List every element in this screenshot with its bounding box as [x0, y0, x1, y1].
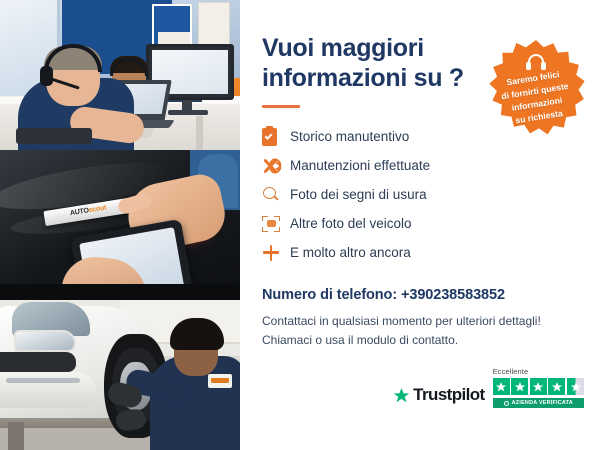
- feature-item-altre-foto-veicolo[interactable]: Altre foto del veicolo: [262, 209, 578, 238]
- monitor-base-shape: [168, 110, 208, 115]
- clipboard-check-icon: [262, 128, 290, 146]
- contact-subtext-line-1: Contattaci in qualsiasi momento per ulte…: [262, 312, 578, 331]
- phone-label: Numero di telefono:: [262, 287, 401, 303]
- photo-call-center-agents-with-headsets: [0, 0, 240, 150]
- feature-label: Altre foto del veicolo: [290, 216, 412, 231]
- shadow-shape: [0, 284, 240, 300]
- page-title-line-2: informazioni su ?: [262, 64, 464, 92]
- mechanic-shape: [150, 318, 240, 450]
- phone-number[interactable]: +390238583852: [401, 287, 505, 303]
- trustpilot-star-filled: [511, 378, 528, 395]
- chrome-trim-shape: [6, 378, 80, 383]
- phone-line: Numero di telefono: +390238583852: [262, 287, 578, 303]
- feature-label: E molto altro ancora: [290, 245, 411, 260]
- tools-cross-icon: [262, 157, 290, 175]
- contact-subtext-line-2: Chiamaci o usa il modulo di contatto.: [262, 331, 578, 350]
- page-title-line-1: Vuoi maggiori: [262, 34, 424, 62]
- trustpilot-stars: [493, 378, 584, 395]
- feature-item-molto-altro-ancora[interactable]: E molto altro ancora: [262, 238, 578, 267]
- desk-tray-shape: [16, 128, 92, 144]
- feature-item-manutenzioni-effettuate[interactable]: Manutenzioni effettuate: [262, 151, 578, 180]
- verified-business-badge: AZIENDA VERIFICATA: [493, 398, 584, 408]
- headset-icon: [526, 54, 546, 70]
- magnifier-icon: [262, 186, 290, 204]
- trustpilot-wordmark: Trustpilot: [413, 385, 484, 405]
- trustpilot-star-filled: [548, 378, 565, 395]
- callout-badge: Saremo felici di fornirti queste informa…: [482, 38, 590, 146]
- trustpilot-star-half: [567, 378, 584, 395]
- content-panel: Vuoi maggiori informazioni su ? Saremo f…: [240, 0, 600, 450]
- trustpilot-star-icon: [393, 387, 410, 404]
- photo-mechanic-inspecting-car-wheel-on-lift: [0, 300, 240, 450]
- promo-card: AUTOscout: [0, 0, 600, 450]
- trustpilot-rating: Eccellente: [493, 367, 584, 408]
- grille-shape: [0, 352, 76, 372]
- title-divider: [262, 105, 300, 108]
- photo-column: AUTOscout: [0, 0, 240, 450]
- contact-subtext: Contattaci in qualsiasi momento per ulte…: [262, 312, 578, 349]
- verified-check-icon: [504, 401, 509, 406]
- trustpilot-widget[interactable]: Trustpilot Eccellente: [393, 367, 584, 408]
- feature-label: Manutenzioni effettuate: [290, 158, 430, 173]
- plus-icon: [262, 244, 290, 262]
- desk-leg-shape: [196, 116, 203, 150]
- trustpilot-brand: Trustpilot: [393, 385, 484, 408]
- scan-frame-icon: [262, 216, 290, 232]
- page-title: Vuoi maggiori informazioni su ?: [262, 34, 482, 93]
- trustpilot-star-filled: [530, 378, 547, 395]
- trustpilot-star-filled: [493, 378, 510, 395]
- feature-label: Foto dei segni di usura: [290, 187, 427, 202]
- headlight-shape: [14, 330, 76, 352]
- photo-technician-measuring-car-body-damage: AUTOscout: [0, 150, 240, 300]
- feature-item-foto-segni-usura[interactable]: Foto dei segni di usura: [262, 180, 578, 209]
- car-lift-post-shape: [8, 422, 24, 450]
- verified-badge-label: AZIENDA VERIFICATA: [512, 400, 573, 406]
- feature-label: Storico manutentivo: [290, 129, 409, 144]
- trustpilot-rating-label: Eccellente: [493, 367, 529, 376]
